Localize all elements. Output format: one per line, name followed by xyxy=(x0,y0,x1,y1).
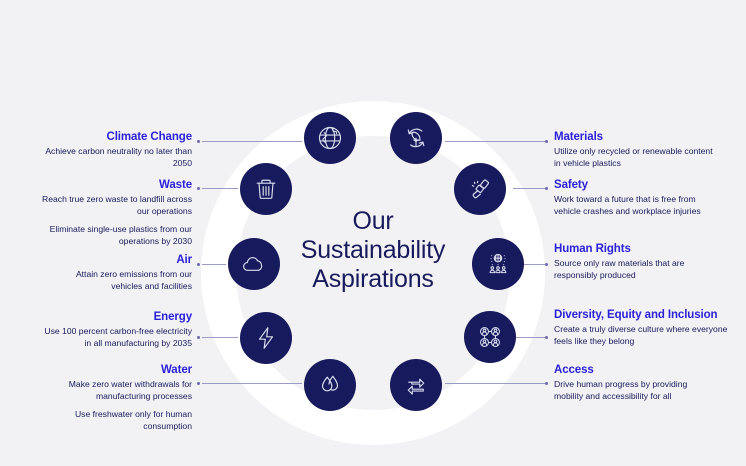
connector-dot-energy xyxy=(197,336,200,339)
node-safety[interactable] xyxy=(454,163,506,215)
connector-dot-safety xyxy=(545,187,548,190)
connector-line-materials xyxy=(445,141,545,142)
connector-dot-climate-change xyxy=(197,140,200,143)
label-heading: Air xyxy=(52,253,192,267)
label-heading: Waste xyxy=(30,178,192,192)
label-heading: Safety xyxy=(554,178,716,192)
globe-icon xyxy=(316,124,344,152)
connector-line-dei xyxy=(513,337,545,338)
label-water: Water Make zero water withdrawals for ma… xyxy=(42,363,192,432)
label-paragraph: Use freshwater only for human consumptio… xyxy=(42,409,192,432)
label-paragraph: Use 100 percent carbon-free electricity … xyxy=(36,326,192,349)
recycle-leaf-icon xyxy=(402,124,430,152)
connector-dot-air xyxy=(197,263,200,266)
connector-dot-human-rights xyxy=(545,263,548,266)
label-climate-change: Climate Change Achieve carbon neutrality… xyxy=(42,130,192,169)
node-climate-change[interactable] xyxy=(304,112,356,164)
connector-dot-materials xyxy=(545,140,548,143)
title-line-2: Sustainability xyxy=(268,236,478,265)
node-waste[interactable] xyxy=(240,163,292,215)
label-energy: Energy Use 100 percent carbon-free elect… xyxy=(36,310,192,349)
node-access[interactable] xyxy=(390,359,442,411)
connector-dot-dei xyxy=(545,336,548,339)
globe-people-icon xyxy=(484,250,512,278)
label-air: Air Attain zero emissions from our vehic… xyxy=(52,253,192,292)
trash-can-icon xyxy=(252,175,280,203)
connector-line-air xyxy=(202,264,226,265)
label-heading: Access xyxy=(554,363,714,377)
water-droplets-icon xyxy=(316,371,344,399)
label-paragraph: Attain zero emissions from our vehicles … xyxy=(52,269,192,292)
label-safety: Safety Work toward a future that is free… xyxy=(554,178,716,217)
label-heading: Energy xyxy=(36,310,192,324)
connector-dot-access xyxy=(545,382,548,385)
connector-line-climate-change xyxy=(202,141,302,142)
label-diversity-equity-inclusion: Diversity, Equity and Inclusion Create a… xyxy=(554,308,740,347)
label-paragraph: Reach true zero waste to landfill across… xyxy=(30,194,192,217)
label-paragraph: Make zero water withdrawals for manufact… xyxy=(42,379,192,402)
infographic-canvas: Our Sustainability Aspirations xyxy=(0,0,746,466)
label-paragraph: Work toward a future that is free from v… xyxy=(554,194,716,217)
connector-line-waste xyxy=(202,188,238,189)
connector-line-energy xyxy=(202,337,238,338)
cloud-icon xyxy=(240,250,268,278)
label-heading: Materials xyxy=(554,130,714,144)
title-line-3: Aspirations xyxy=(268,265,478,294)
connector-line-water xyxy=(202,383,302,384)
label-human-rights: Human Rights Source only raw materials t… xyxy=(554,242,706,281)
label-paragraph: Drive human progress by providing mobili… xyxy=(554,379,714,402)
label-paragraph: Eliminate single-use plastics from our o… xyxy=(30,224,192,247)
title-line-1: Our xyxy=(268,207,478,236)
node-diversity-equity-inclusion[interactable] xyxy=(464,311,516,363)
node-human-rights[interactable] xyxy=(472,238,524,290)
label-heading: Human Rights xyxy=(554,242,706,256)
label-heading: Diversity, Equity and Inclusion xyxy=(554,308,740,322)
label-paragraph: Source only raw materials that are respo… xyxy=(554,258,706,281)
label-materials: Materials Utilize only recycled or renew… xyxy=(554,130,714,169)
label-paragraph: Create a truly diverse culture where eve… xyxy=(554,324,740,347)
connector-line-human-rights xyxy=(523,264,545,265)
seatbelt-buckle-icon xyxy=(466,175,494,203)
label-access: Access Drive human progress by providing… xyxy=(554,363,714,402)
label-heading: Climate Change xyxy=(42,130,192,144)
label-paragraph: Achieve carbon neutrality no later than … xyxy=(42,146,192,169)
node-energy[interactable] xyxy=(240,312,292,364)
node-air[interactable] xyxy=(228,238,280,290)
connector-dot-waste xyxy=(197,187,200,190)
label-paragraph: Utilize only recycled or renewable conte… xyxy=(554,146,714,169)
connector-line-access xyxy=(445,383,545,384)
two-arrows-icon xyxy=(402,371,430,399)
node-materials[interactable] xyxy=(390,112,442,164)
page-title: Our Sustainability Aspirations xyxy=(268,207,478,294)
label-waste: Waste Reach true zero waste to landfill … xyxy=(30,178,192,247)
lightning-bolt-icon xyxy=(252,324,280,352)
people-network-icon xyxy=(476,323,504,351)
label-heading: Water xyxy=(42,363,192,377)
node-water[interactable] xyxy=(304,359,356,411)
connector-line-safety xyxy=(513,188,545,189)
connector-dot-water xyxy=(197,382,200,385)
